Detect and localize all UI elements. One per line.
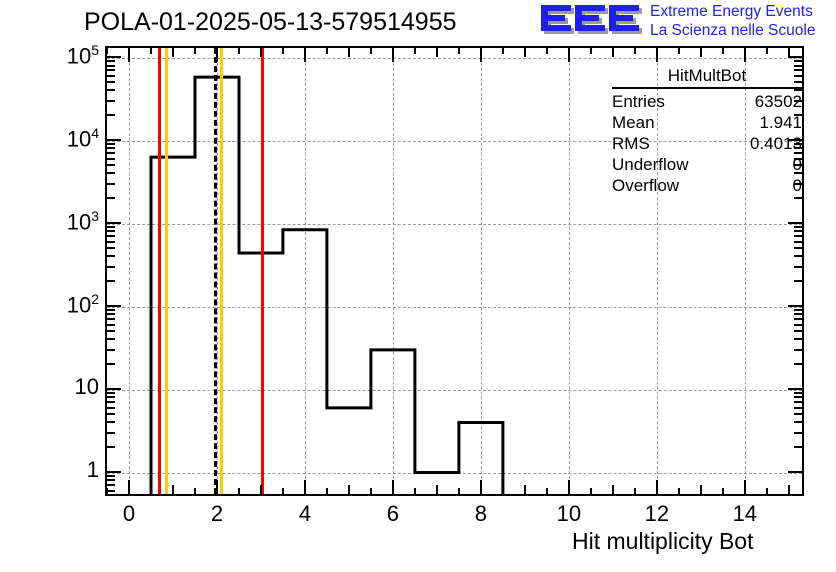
x-axis-tick (172, 485, 174, 494)
stats-box-rule (612, 87, 802, 89)
y-axis-tick (107, 446, 115, 448)
y-axis-tick (107, 60, 115, 62)
plot-title: POLA-01-2025-05-13-579514955 (84, 8, 457, 37)
x-axis-title: Hit multiplicity Bot (572, 528, 753, 555)
stats-row: Mean1.941 (612, 112, 802, 133)
y-axis-tick-label: 1 (0, 457, 99, 483)
y-axis-tick (107, 266, 115, 268)
y-axis-tick (107, 479, 115, 481)
x-axis-tick-top (194, 48, 196, 54)
x-axis-tick (392, 480, 394, 494)
y-axis-tick-right (794, 363, 802, 365)
y-axis-tick-label: 105 (0, 42, 99, 69)
y-axis-tick-right (794, 446, 802, 448)
root-canvas: POLA-01-2025-05-13-579514955 (0, 0, 836, 572)
x-axis-tick-top (590, 48, 592, 54)
y-axis-tick (107, 139, 121, 141)
y-axis-tick (107, 475, 115, 477)
stats-box: HitMultBot Entries63502Mean1.941RMS0.401… (612, 66, 802, 196)
y-axis-tick (107, 392, 115, 394)
x-axis-tick-label: 2 (187, 501, 247, 527)
eee-logo-line1: Extreme Energy Events (650, 2, 815, 21)
x-axis-tick-top (546, 48, 548, 54)
stats-row: Overflow0 (612, 175, 802, 196)
y-axis-tick (107, 143, 115, 145)
x-axis-tick (304, 480, 306, 494)
y-axis-tick (107, 235, 115, 237)
x-axis-tick-top (348, 48, 350, 57)
y-axis-tick-right (794, 318, 802, 320)
x-axis-tick (590, 488, 592, 494)
x-axis-tick-top (678, 48, 680, 54)
y-axis-tick (107, 305, 121, 307)
y-axis-tick (107, 197, 115, 199)
y-axis-tick-right (788, 305, 802, 307)
y-axis-tick-right (788, 471, 802, 473)
y-axis-tick-right (788, 56, 802, 58)
y-axis-tick-right (794, 60, 802, 62)
y-axis-tick (107, 407, 115, 409)
x-axis-tick-top (458, 48, 460, 54)
y-axis-tick (107, 484, 115, 486)
stats-row-value: 63502 (755, 91, 802, 112)
x-axis-tick (216, 480, 218, 494)
x-axis-tick (414, 488, 416, 494)
stats-row: RMS0.4013 (612, 133, 802, 154)
y-axis-tick-right (794, 313, 802, 315)
y-axis-tick (107, 114, 115, 116)
y-axis-tick (107, 471, 121, 473)
y-axis-tick (107, 69, 115, 71)
x-axis-tick (700, 485, 702, 494)
x-axis-tick (260, 485, 262, 494)
y-axis-tick-right (794, 226, 802, 228)
x-axis-tick (656, 480, 658, 494)
y-axis-tick-right (794, 338, 802, 340)
x-axis-tick-top (568, 48, 570, 62)
x-axis-tick (634, 488, 636, 494)
y-axis-tick-right (794, 247, 802, 249)
y-axis-tick-right (794, 421, 802, 423)
x-axis-tick-top (392, 48, 394, 62)
x-axis-tick (678, 488, 680, 494)
stats-box-rows: Entries63502Mean1.941RMS0.4013Underflow0… (612, 91, 802, 196)
stats-row-value: 0.4013 (750, 133, 802, 154)
x-axis-tick-label: 12 (627, 501, 687, 527)
stats-row: Underflow0 (612, 154, 802, 175)
x-axis-tick (150, 488, 152, 494)
x-axis-tick-top (722, 48, 724, 54)
y-axis-tick (107, 81, 115, 83)
y-axis-tick-right (794, 349, 802, 351)
x-axis-tick-top (700, 48, 702, 57)
y-axis-tick (107, 247, 115, 249)
x-axis-tick (436, 485, 438, 494)
y-axis-tick (107, 309, 115, 311)
x-axis-tick (502, 488, 504, 494)
y-axis-tick (107, 413, 115, 415)
y-axis-tick-label: 10 (0, 374, 99, 400)
x-axis-tick-top (766, 48, 768, 54)
y-axis-tick (107, 89, 115, 91)
y-axis-tick-right (794, 396, 802, 398)
y-axis-tick (107, 100, 115, 102)
y-axis-tick (107, 56, 121, 58)
x-axis-tick-top (216, 48, 218, 62)
stats-box-title: HitMultBot (612, 66, 802, 87)
y-axis-tick (107, 363, 115, 365)
x-axis-tick-top (282, 48, 284, 54)
stats-row: Entries63502 (612, 91, 802, 112)
x-axis-tick-top (260, 48, 262, 57)
y-axis-tick-right (794, 241, 802, 243)
x-axis-tick (128, 480, 130, 494)
x-axis-tick-top (304, 48, 306, 62)
y-axis-tick-right (794, 407, 802, 409)
x-axis-tick-label: 10 (539, 501, 599, 527)
y-axis-tick-right (788, 222, 802, 224)
x-axis-tick (568, 480, 570, 494)
x-axis-tick (744, 480, 746, 494)
y-axis-tick (107, 490, 115, 492)
x-axis-tick-top (436, 48, 438, 57)
stats-row-label: Overflow (612, 175, 679, 196)
eee-logo: Extreme Energy Events La Scienza nelle S… (538, 2, 834, 42)
x-axis-tick (282, 488, 284, 494)
y-axis-tick-right (794, 230, 802, 232)
x-axis-tick (194, 488, 196, 494)
y-axis-tick-right (794, 255, 802, 257)
stats-row-label: Entries (612, 91, 665, 112)
y-axis-tick (107, 158, 115, 160)
x-axis-tick (458, 488, 460, 494)
y-axis-tick-right (794, 266, 802, 268)
y-axis-tick (107, 226, 115, 228)
y-axis-tick (107, 338, 115, 340)
eee-logo-line2: La Scienza nelle Scuole (650, 21, 815, 40)
x-axis-tick-label: 4 (275, 501, 335, 527)
y-axis-tick (107, 222, 121, 224)
y-axis-tick (107, 241, 115, 243)
y-axis-tick (107, 255, 115, 257)
y-axis-tick (107, 147, 115, 149)
y-axis-tick-right (794, 432, 802, 434)
y-axis-tick (107, 280, 115, 282)
x-axis-tick-top (414, 48, 416, 54)
y-axis-tick-right (794, 324, 802, 326)
x-axis-tick-top (238, 48, 240, 54)
eee-logo-text: Extreme Energy Events La Scienza nelle S… (650, 2, 815, 40)
y-axis-tick-label: 104 (0, 125, 99, 152)
y-axis-tick-right (794, 413, 802, 415)
x-axis-tick (766, 488, 768, 494)
x-axis-tick-top (502, 48, 504, 54)
x-axis-tick-label: 0 (99, 501, 159, 527)
y-axis-tick-right (794, 330, 802, 332)
y-axis-tick (107, 230, 115, 232)
stats-row-value: 0 (793, 154, 802, 175)
y-axis-tick-label: 103 (0, 208, 99, 235)
x-axis-tick-label: 8 (451, 501, 511, 527)
x-axis-tick (326, 488, 328, 494)
x-axis-tick-top (634, 48, 636, 54)
stats-row-value: 1.941 (759, 112, 802, 133)
y-axis-tick (107, 318, 115, 320)
x-axis-tick (524, 485, 526, 494)
x-axis-tick-top (150, 48, 152, 54)
x-axis-tick-label: 14 (715, 501, 775, 527)
x-axis-tick (788, 485, 790, 494)
y-axis-tick (107, 164, 115, 166)
y-axis-tick-right (788, 388, 802, 390)
x-axis-tick-top (524, 48, 526, 57)
y-axis-tick-right (794, 401, 802, 403)
x-axis-tick (370, 488, 372, 494)
x-axis-tick (722, 488, 724, 494)
y-axis-tick (107, 172, 115, 174)
x-axis-tick-top (370, 48, 372, 54)
y-axis-tick-right (794, 235, 802, 237)
y-axis-tick (107, 324, 115, 326)
y-axis-tick (107, 75, 115, 77)
x-axis-tick-top (326, 48, 328, 54)
y-axis-tick (107, 152, 115, 154)
eee-logo-mark (538, 3, 644, 39)
y-axis-tick (107, 330, 115, 332)
x-axis-tick (612, 485, 614, 494)
y-axis-tick-right (794, 309, 802, 311)
x-axis-tick-top (172, 48, 174, 57)
y-axis-tick (107, 401, 115, 403)
stats-row-value: 0 (793, 175, 802, 196)
y-axis-tick (107, 313, 115, 315)
y-axis-tick-right (794, 197, 802, 199)
y-axis-tick (107, 421, 115, 423)
x-axis-tick-label: 6 (363, 501, 423, 527)
y-axis-tick (107, 432, 115, 434)
x-axis-tick-top (128, 48, 130, 62)
stats-row-label: Mean (612, 112, 655, 133)
x-axis-tick-top (744, 48, 746, 62)
x-axis-tick-top (656, 48, 658, 62)
y-axis-tick (107, 396, 115, 398)
x-axis-tick-top (612, 48, 614, 57)
x-axis-tick-top (480, 48, 482, 62)
x-axis-tick (546, 488, 548, 494)
x-axis-tick-top (106, 48, 108, 54)
y-axis-tick-right (794, 280, 802, 282)
stats-row-label: RMS (612, 133, 650, 154)
x-axis-tick (238, 488, 240, 494)
y-axis-tick (107, 349, 115, 351)
x-axis-tick (480, 480, 482, 494)
y-axis-tick (107, 183, 115, 185)
y-axis-tick (107, 65, 115, 67)
y-axis-tick-right (794, 392, 802, 394)
x-axis-tick (348, 485, 350, 494)
y-axis-tick-label: 102 (0, 291, 99, 318)
stats-row-label: Underflow (612, 154, 689, 175)
y-axis-tick (107, 388, 121, 390)
